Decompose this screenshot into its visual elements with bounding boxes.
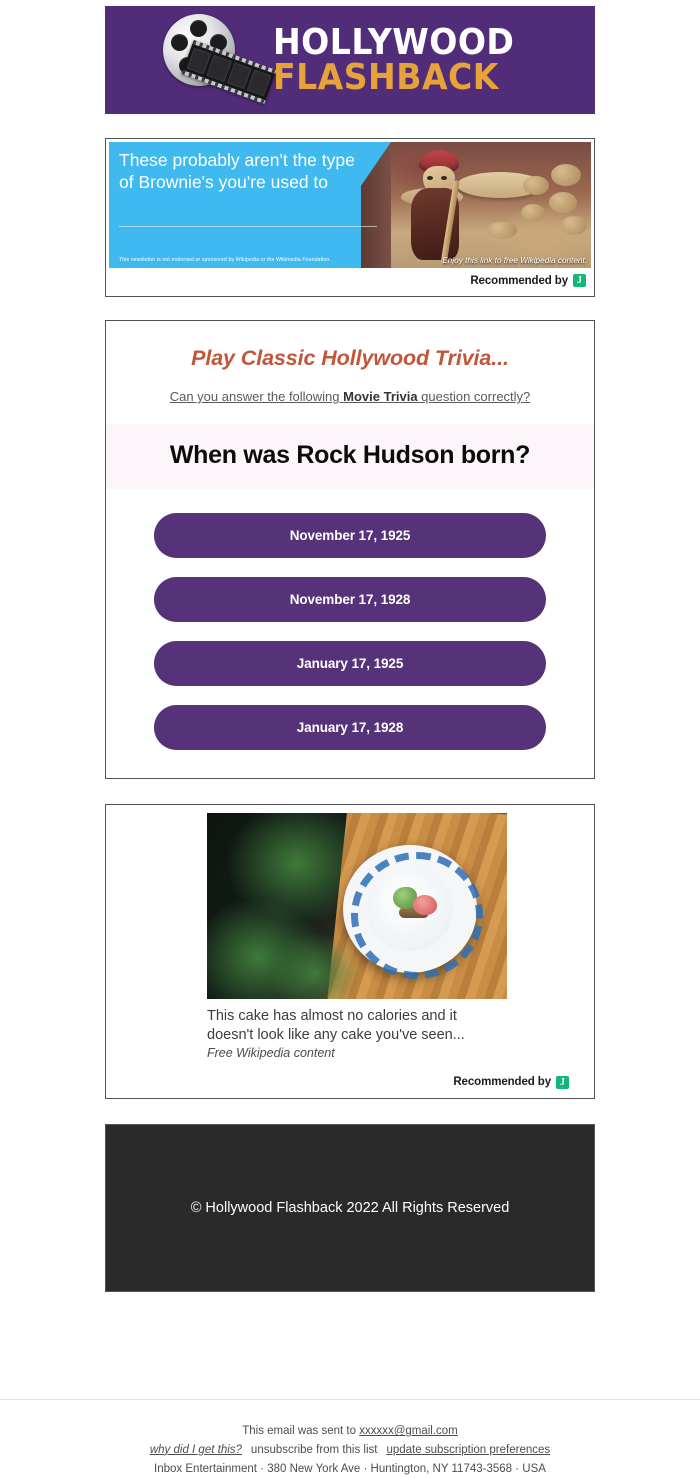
trivia-answer-option-2[interactable]: November 17, 1928: [154, 577, 546, 622]
content-ad-image[interactable]: [207, 813, 507, 999]
banner-ad-body[interactable]: These probably aren't the type of Browni…: [109, 142, 591, 268]
brand-name-primary: HOLLYWOOD: [273, 26, 514, 59]
trivia-question-band: When was Rock Hudson born?: [106, 424, 594, 489]
illustration-loaf: [487, 222, 517, 239]
banner-ad-headline[interactable]: These probably aren't the type of Browni…: [119, 150, 367, 193]
banner-divider: [119, 226, 377, 227]
copyright-text: © Hollywood Flashback 2022 All Rights Re…: [191, 1200, 510, 1216]
banner-ad-card[interactable]: These probably aren't the type of Browni…: [105, 138, 595, 297]
illustration-loaf: [561, 216, 587, 235]
trivia-subtitle-link[interactable]: Can you answer the following Movie Trivi…: [170, 389, 531, 404]
banner-ad-disclaimer: This newsletter is not endorsed or spons…: [119, 257, 331, 263]
taboola-logo-icon: J: [556, 1076, 569, 1089]
content-ad-card[interactable]: This cake has almost no calories and it …: [105, 804, 595, 1099]
reel-hole: [190, 20, 207, 37]
trivia-answer-option-4[interactable]: January 17, 1928: [154, 705, 546, 750]
banner-ad-illustration: [361, 142, 591, 268]
trivia-title: Play Classic Hollywood Trivia...: [106, 346, 594, 371]
trivia-answer-list: November 17, 1925 November 17, 1928 Janu…: [106, 513, 594, 750]
reel-hole: [171, 34, 188, 51]
why-did-i-get-this-link[interactable]: why did I get this?: [150, 1444, 242, 1456]
email-footer: This email was sent to xxxxxx@gmail.com …: [0, 1400, 700, 1478]
illustration-eye: [427, 176, 433, 180]
trivia-subtitle-before: Can you answer the following: [170, 389, 343, 404]
illustration-loaf: [551, 164, 581, 186]
illustration-loaf: [521, 204, 545, 222]
copyright-footer: © Hollywood Flashback 2022 All Rights Re…: [105, 1124, 595, 1292]
film-reel-icon: [157, 8, 277, 112]
illustration-loaf: [523, 176, 549, 195]
taboola-logo-icon: J: [573, 274, 586, 287]
recipient-email-link[interactable]: xxxxxx@gmail.com: [359, 1425, 458, 1437]
email-page: HOLLYWOOD FLASHBACK: [0, 0, 700, 1478]
recommended-by-label: Recommended by: [470, 275, 568, 287]
content-ad-headline[interactable]: This cake has almost no calories and it …: [207, 1007, 503, 1045]
brand-logo[interactable]: HOLLYWOOD FLASHBACK: [157, 8, 535, 112]
sent-to-label: This email was sent to: [242, 1425, 359, 1437]
trivia-subtitle-after: question correctly?: [418, 389, 531, 404]
illustration-loaf: [549, 192, 577, 213]
content-ad-source: Free Wikipedia content: [207, 1046, 591, 1060]
image-dessert-red: [413, 895, 437, 915]
trivia-question: When was Rock Hudson born?: [106, 441, 594, 470]
trivia-subtitle-bold: Movie Trivia: [343, 389, 417, 404]
brand-wordmark: HOLLYWOOD FLASHBACK: [273, 26, 535, 94]
sender-address: Inbox Entertainment · 380 New York Ave ·…: [0, 1460, 700, 1478]
film-frame: [246, 69, 271, 96]
trivia-card: Play Classic Hollywood Trivia... Can you…: [105, 320, 595, 779]
illustration-brownie-figure: [407, 150, 469, 260]
masthead-header: HOLLYWOOD FLASHBACK: [105, 6, 595, 114]
sent-to-line: This email was sent to xxxxxx@gmail.com: [0, 1422, 700, 1441]
trivia-subtitle[interactable]: Can you answer the following Movie Trivi…: [106, 389, 594, 404]
image-foliage: [269, 933, 359, 999]
unsubscribe-link[interactable]: unsubscribe from this list: [251, 1444, 378, 1456]
banner-ad-image-caption: Enjoy this link to free Wikipedia conten…: [442, 256, 587, 265]
trivia-answer-option-1[interactable]: November 17, 1925: [154, 513, 546, 558]
banner-recommended-by-row[interactable]: Recommended by J: [109, 268, 591, 293]
brand-name-secondary: FLASHBACK: [273, 61, 514, 94]
trivia-answer-option-3[interactable]: January 17, 1925: [154, 641, 546, 686]
recommended-by-label: Recommended by: [453, 1076, 551, 1088]
content-recommended-by-row[interactable]: Recommended by J: [109, 1069, 591, 1095]
update-preferences-link[interactable]: update subscription preferences: [386, 1444, 550, 1456]
illustration-eye: [441, 176, 447, 180]
